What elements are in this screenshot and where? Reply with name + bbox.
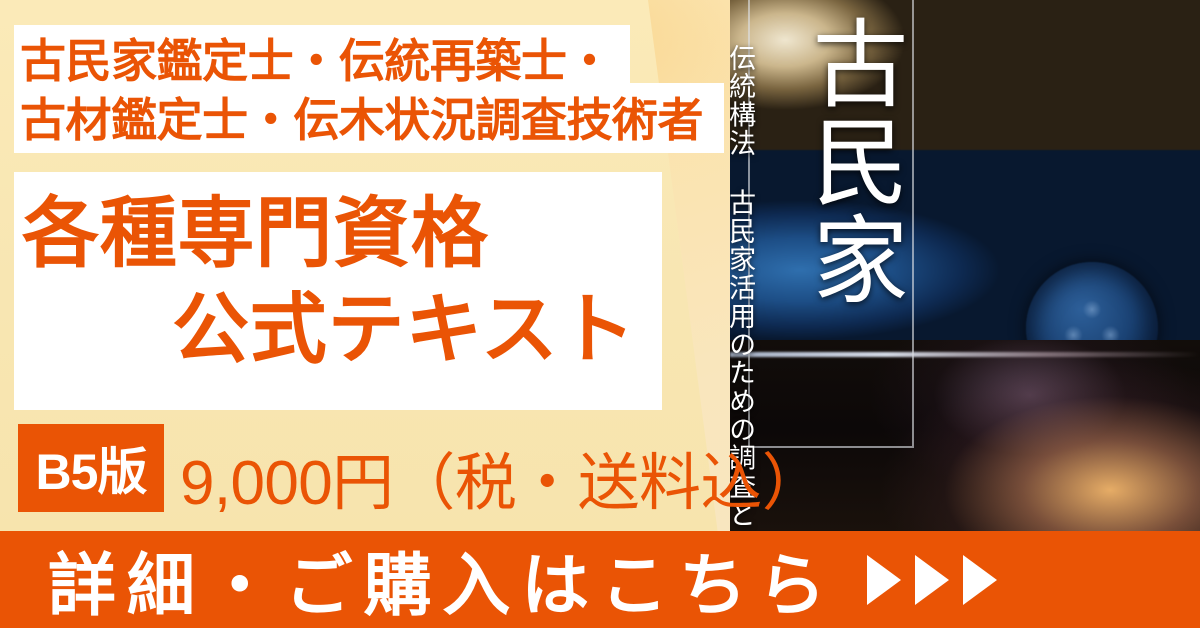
- triangle-right-icon: [963, 555, 997, 605]
- format-badge: B5版: [18, 424, 164, 512]
- cta-arrows: [867, 555, 997, 605]
- triangle-right-icon: [867, 555, 901, 605]
- qualification-line-2: 古材鑑定士・伝木状況調査技術者: [20, 97, 703, 143]
- triangle-right-icon: [915, 555, 949, 605]
- qualification-line-1: 古民家鑑定士・伝統再築士・: [20, 38, 612, 84]
- promo-banner: 古民家 伝統構法 古民家活用のための調査と再生の 古民家鑑定士・伝統再築士・ 古…: [0, 0, 1200, 628]
- main-headline-line-1: 各種専門資格: [22, 196, 489, 273]
- main-headline-line-2: 公式テキスト: [172, 292, 636, 369]
- price-text: 9,000円（税・送料込）: [180, 432, 823, 522]
- cta-label: 詳細・ご購入はこちら: [48, 530, 837, 628]
- cta-bar[interactable]: 詳細・ご購入はこちら: [0, 531, 1200, 628]
- cover-title-text: 古民家: [748, 14, 910, 308]
